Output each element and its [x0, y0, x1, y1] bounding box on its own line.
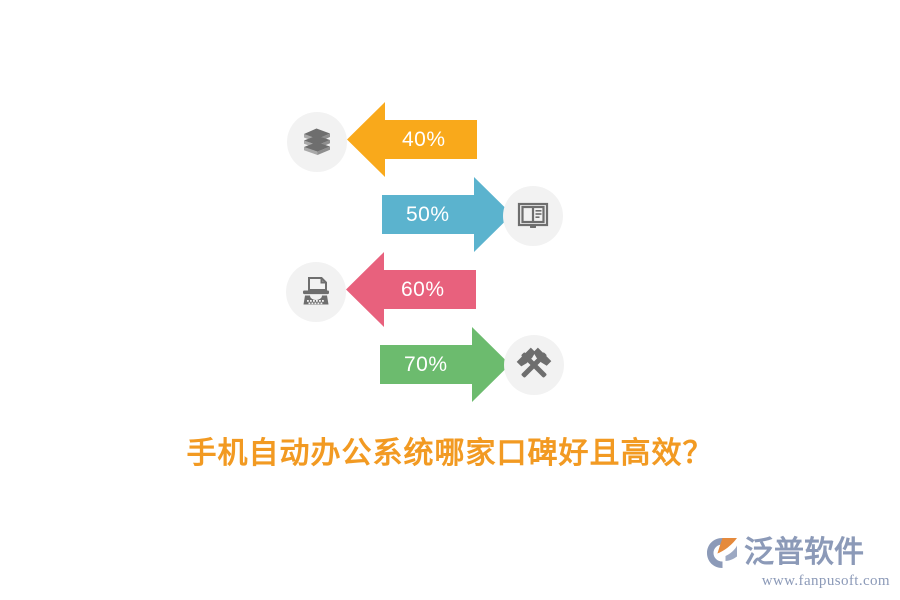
typewriter-icon	[297, 273, 335, 311]
brand-name: 泛普软件	[744, 538, 864, 568]
crossed-hammers-icon-circle	[504, 335, 564, 395]
books-stack-icon	[298, 123, 336, 161]
page-title: 手机自动办公系统哪家口碑好且高效？	[0, 428, 900, 472]
arrow-infographic: 40% 50%	[0, 0, 900, 420]
arrow-label-60: 60%	[401, 279, 445, 300]
books-stack-icon-circle	[287, 112, 347, 172]
arrow-label-70: 70%	[404, 354, 448, 375]
brand-url: www.fanpusoft.com	[705, 573, 890, 590]
arrow-row-50: 50%	[382, 177, 512, 252]
arrow-row-70: 70%	[380, 327, 510, 402]
arrow-row-40: 40%	[347, 102, 477, 177]
typewriter-icon-circle	[286, 262, 346, 322]
arrow-label-50: 50%	[406, 204, 450, 225]
crossed-hammers-icon	[514, 345, 554, 385]
arrow-label-40: 40%	[402, 129, 446, 150]
fanpu-logo-mark-icon	[705, 536, 741, 570]
arrow-row-60: 60%	[346, 252, 476, 327]
brand-logo: 泛普软件 www.fanpusoft.com	[705, 534, 890, 592]
screenshot-canvas: 40% 50%	[0, 0, 900, 600]
brand-logo-row: 泛普软件	[705, 534, 890, 572]
open-book-icon-circle	[503, 186, 563, 246]
open-book-icon	[514, 197, 552, 235]
